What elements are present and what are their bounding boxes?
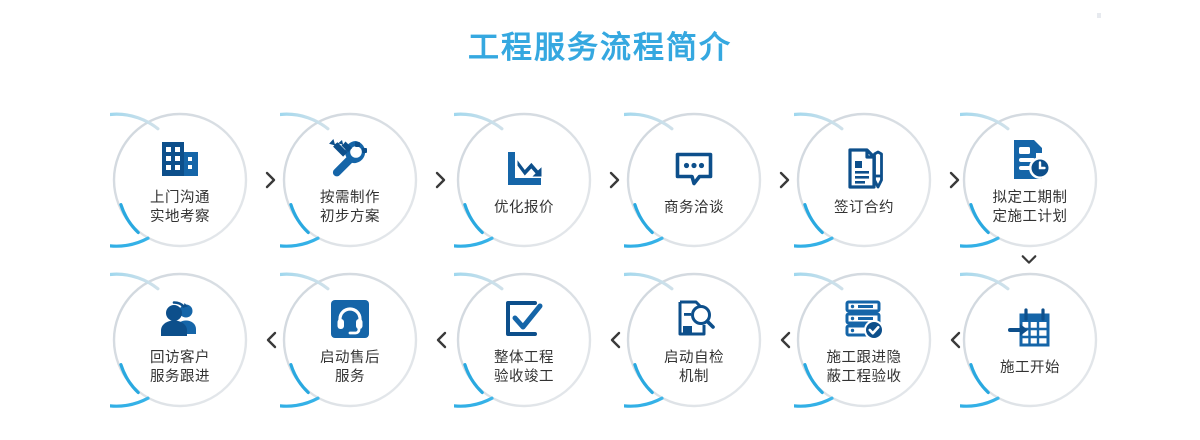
checkbox-check-icon — [498, 293, 550, 345]
step-label-line: 验收竣工 — [494, 368, 554, 387]
step-label-line: 机制 — [664, 368, 724, 387]
step-circle: 施工开始 — [960, 270, 1100, 410]
wrench-screwdriver-icon — [324, 133, 376, 185]
step-label: 施工跟进隐蔽工程验收 — [827, 349, 902, 387]
process-flow-page: 工程服务流程简介 — [0, 0, 1200, 440]
step-label: 启动售后服务 — [320, 349, 380, 387]
step-circle: 优化报价 — [454, 110, 594, 250]
document-magnifier-icon — [668, 293, 720, 345]
step-content: 签订合约 — [794, 110, 934, 250]
step-label: 启动自检机制 — [664, 349, 724, 387]
step-circle: 商务洽谈 — [624, 110, 764, 250]
process-step-8[interactable]: 施工跟进隐蔽工程验收 — [784, 260, 944, 420]
step-content: 拟定工期制定施工计划 — [960, 110, 1100, 250]
process-step-2[interactable]: 按需制作初步方案 — [270, 100, 430, 260]
declining-chart-icon — [498, 143, 550, 195]
step-label-line: 整体工程 — [494, 349, 554, 368]
step-content: 启动售后服务 — [280, 270, 420, 410]
flow-row-bottom: 回访客户服务跟进 启动售后服务 — [0, 260, 1200, 420]
step-label-line: 施工跟进隐 — [827, 349, 902, 368]
process-step-4[interactable]: 商务洽谈 — [614, 100, 774, 260]
step-label: 商务洽谈 — [664, 199, 724, 218]
step-circle: 启动售后服务 — [280, 270, 420, 410]
step-label-line: 实地考察 — [150, 208, 210, 227]
process-step-12[interactable]: 回访客户服务跟进 — [100, 260, 260, 420]
step-label: 按需制作初步方案 — [320, 189, 380, 227]
step-label-line: 启动自检 — [664, 349, 724, 368]
process-step-6[interactable]: 拟定工期制定施工计划 — [950, 100, 1110, 260]
step-label: 上门沟通实地考察 — [150, 189, 210, 227]
step-label: 拟定工期制定施工计划 — [993, 189, 1068, 227]
step-content: 上门沟通实地考察 — [110, 110, 250, 250]
step-label-line: 服务 — [320, 368, 380, 387]
step-circle: 整体工程验收竣工 — [454, 270, 594, 410]
step-label: 施工开始 — [1000, 359, 1060, 378]
step-label-line: 施工开始 — [1000, 359, 1060, 378]
step-label-line: 初步方案 — [320, 208, 380, 227]
contract-pen-icon — [838, 143, 890, 195]
step-circle: 签订合约 — [794, 110, 934, 250]
step-content: 按需制作初步方案 — [280, 110, 420, 250]
process-step-10[interactable]: 整体工程验收竣工 — [444, 260, 604, 420]
step-circle: 启动自检机制 — [624, 270, 764, 410]
step-label: 回访客户服务跟进 — [150, 349, 210, 387]
step-label-line: 拟定工期制 — [993, 189, 1068, 208]
step-label-line: 上门沟通 — [150, 189, 210, 208]
step-label-line: 蔽工程验收 — [827, 368, 902, 387]
step-content: 启动自检机制 — [624, 270, 764, 410]
step-content: 施工开始 — [960, 270, 1100, 410]
step-circle: 施工跟进隐蔽工程验收 — [794, 270, 934, 410]
page-title: 工程服务流程简介 — [0, 22, 1200, 67]
step-content: 整体工程验收竣工 — [454, 270, 594, 410]
server-check-icon — [838, 293, 890, 345]
step-content: 施工跟进隐蔽工程验收 — [794, 270, 934, 410]
step-label-line: 回访客户 — [150, 349, 210, 368]
step-label: 签订合约 — [834, 199, 894, 218]
step-label-line: 启动售后 — [320, 349, 380, 368]
flow-row-top: 上门沟通实地考察 — [0, 100, 1200, 260]
process-step-11[interactable]: 启动售后服务 — [270, 260, 430, 420]
step-label-line: 签订合约 — [834, 199, 894, 218]
step-circle: 拟定工期制定施工计划 — [960, 110, 1100, 250]
process-step-5[interactable]: 签订合约 — [784, 100, 944, 260]
schedule-clock-icon — [1004, 133, 1056, 185]
step-circle: 按需制作初步方案 — [280, 110, 420, 250]
office-building-icon — [154, 133, 206, 185]
step-label-line: 按需制作 — [320, 189, 380, 208]
background-artifact — [1097, 13, 1101, 18]
process-step-9[interactable]: 启动自检机制 — [614, 260, 774, 420]
step-label-line: 服务跟进 — [150, 368, 210, 387]
speech-bubble-icon — [668, 143, 720, 195]
step-label-line: 优化报价 — [494, 199, 554, 218]
step-circle: 上门沟通实地考察 — [110, 110, 250, 250]
process-step-1[interactable]: 上门沟通实地考察 — [100, 100, 260, 260]
step-circle: 回访客户服务跟进 — [110, 270, 250, 410]
step-content: 商务洽谈 — [624, 110, 764, 250]
step-label: 优化报价 — [494, 199, 554, 218]
step-content: 优化报价 — [454, 110, 594, 250]
step-label-line: 商务洽谈 — [664, 199, 724, 218]
calendar-start-icon — [1004, 303, 1056, 355]
two-people-icon — [154, 293, 206, 345]
process-step-7[interactable]: 施工开始 — [950, 260, 1110, 420]
step-label: 整体工程验收竣工 — [494, 349, 554, 387]
step-label-line: 定施工计划 — [993, 208, 1068, 227]
process-step-3[interactable]: 优化报价 — [444, 100, 604, 260]
headset-support-icon — [324, 293, 376, 345]
step-content: 回访客户服务跟进 — [110, 270, 250, 410]
